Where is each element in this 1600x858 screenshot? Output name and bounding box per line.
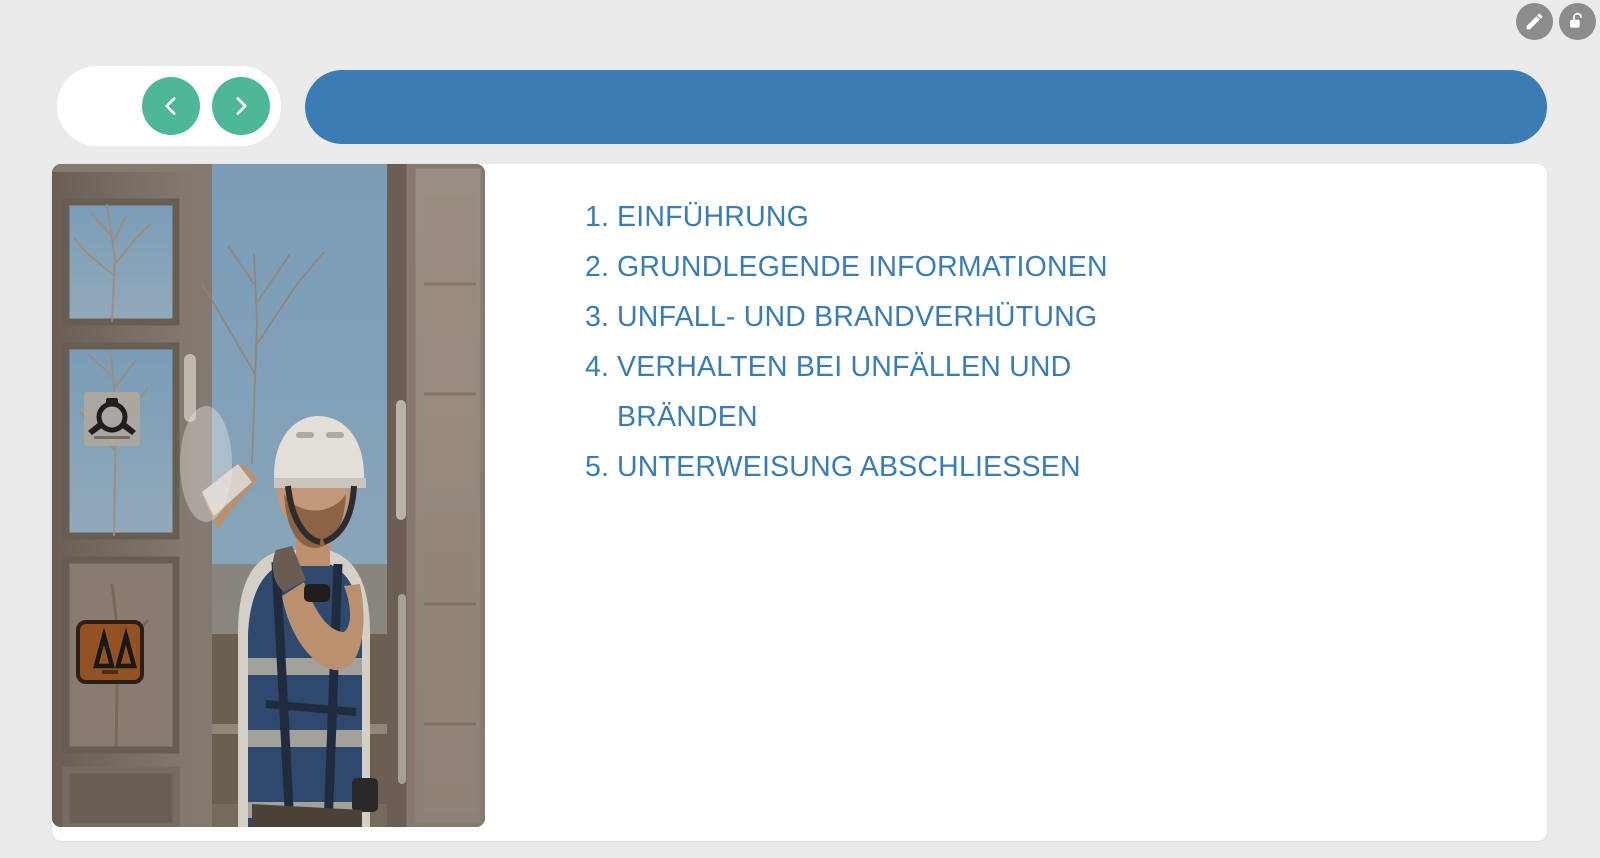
agenda-item-4[interactable]: 4. VERHALTEN BEI UNFÄLLEN UND BRÄNDEN xyxy=(585,342,1465,442)
chevron-right-icon xyxy=(228,93,254,119)
slide-title-bar xyxy=(305,70,1547,144)
agenda-list: 1. EINFÜHRUNG 2. GRUNDLEGENDE INFORMATIO… xyxy=(585,192,1465,492)
agenda-item-1-number: 1. xyxy=(585,192,617,242)
agenda-item-4-label: VERHALTEN BEI UNFÄLLEN UND BRÄNDEN xyxy=(617,342,1465,442)
agenda-item-3-label: UNFALL- UND BRANDVERHÜTUNG xyxy=(617,292,1465,342)
worker-door-photo xyxy=(52,164,485,827)
agenda-item-4-number: 4. xyxy=(585,342,617,442)
unlock-icon xyxy=(1567,11,1588,32)
agenda-item-1-label: EINFÜHRUNG xyxy=(617,192,1465,242)
pencil-icon xyxy=(1524,11,1545,32)
agenda-item-3[interactable]: 3. UNFALL- UND BRANDVERHÜTUNG xyxy=(585,292,1465,342)
slide-image xyxy=(52,164,485,827)
edit-button[interactable] xyxy=(1516,3,1553,40)
agenda-item-5-label: UNTERWEISUNG ABSCHLIESSEN xyxy=(617,442,1465,492)
agenda-item-3-number: 3. xyxy=(585,292,617,342)
slide-navigation-pill xyxy=(57,66,281,146)
chevron-left-icon xyxy=(158,93,184,119)
agenda-item-5-number: 5. xyxy=(585,442,617,492)
agenda-item-2[interactable]: 2. GRUNDLEGENDE INFORMATIONEN xyxy=(585,242,1465,292)
agenda-item-1[interactable]: 1. EINFÜHRUNG xyxy=(585,192,1465,242)
agenda-item-2-label: GRUNDLEGENDE INFORMATIONEN xyxy=(617,242,1465,292)
previous-slide-button[interactable] xyxy=(142,77,200,135)
top-control-bar xyxy=(1516,3,1596,40)
unlock-button[interactable] xyxy=(1559,3,1596,40)
next-slide-button[interactable] xyxy=(212,77,270,135)
agenda-item-5[interactable]: 5. UNTERWEISUNG ABSCHLIESSEN xyxy=(585,442,1465,492)
agenda-item-2-number: 2. xyxy=(585,242,617,292)
